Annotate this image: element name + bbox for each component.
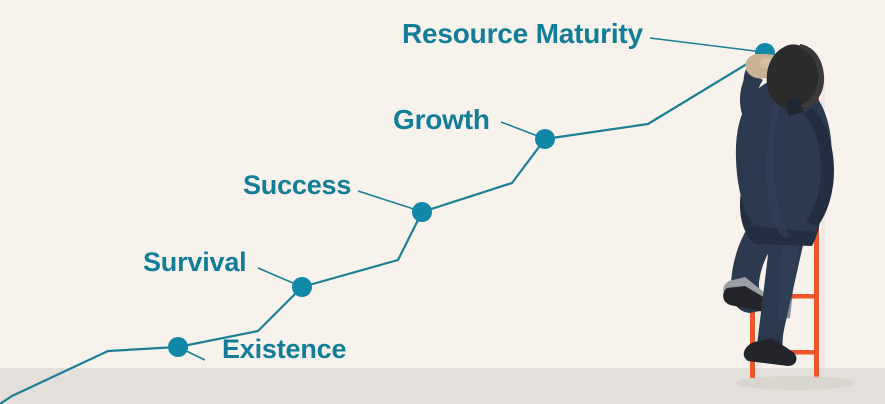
growth-stage-illustration	[0, 0, 885, 404]
stage-dot-success[interactable]	[412, 202, 432, 222]
stage-label-existence[interactable]: Existence	[222, 334, 346, 365]
stage-label-growth[interactable]: Growth	[393, 104, 490, 136]
stage-label-survival[interactable]: Survival	[143, 247, 246, 278]
stage-dot-existence[interactable]	[168, 337, 188, 357]
stage-label-resource-maturity[interactable]: Resource Maturity	[402, 18, 643, 50]
leader-line-resource-maturity	[650, 38, 763, 52]
figure-floor-shadow	[735, 376, 855, 390]
leader-line-success	[358, 191, 420, 211]
illustration-canvas: Resource Maturity Growth Success Surviva…	[0, 0, 885, 404]
stage-dot-survival[interactable]	[292, 277, 312, 297]
stage-label-success[interactable]: Success	[243, 170, 351, 201]
stage-dot-growth[interactable]	[535, 129, 555, 149]
growth-path-line	[0, 53, 765, 404]
